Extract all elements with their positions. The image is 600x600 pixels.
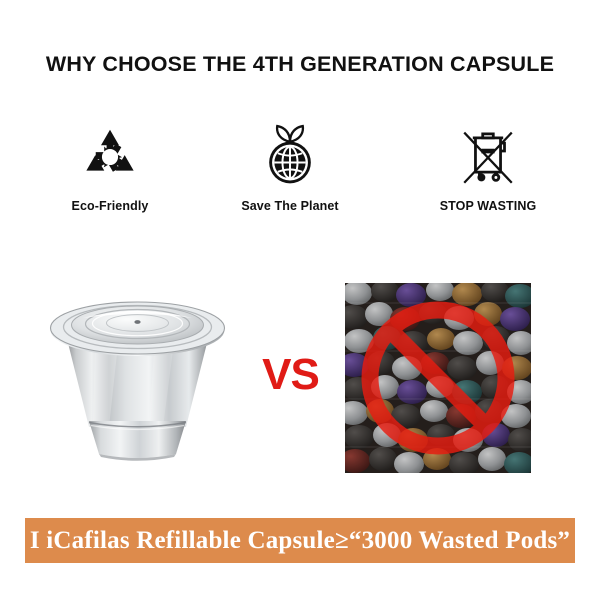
pile-of-disposable-coffee-pods-image xyxy=(345,283,531,473)
crossed-out-trash-bin-icon xyxy=(403,122,573,188)
bottom-banner: I iCafilas Refillable Capsule≥“3000 Wast… xyxy=(25,518,575,563)
benefit-label-eco-friendly: Eco-Friendly xyxy=(25,199,195,213)
benefit-item-save-the-planet: Save The Planet xyxy=(205,122,375,222)
recycle-icon xyxy=(25,122,195,188)
comparison-section: VS xyxy=(0,270,600,485)
globe-leaves-icon xyxy=(205,122,375,188)
benefit-label-stop-wasting: STOP WASTING xyxy=(403,199,573,213)
benefit-label-save-the-planet: Save The Planet xyxy=(205,199,375,213)
versus-label: VS xyxy=(243,353,338,397)
benefits-row: Eco-Friendly xyxy=(0,122,600,222)
page-headline: WHY CHOOSE THE 4TH GENERATION CAPSULE xyxy=(0,52,600,77)
stainless-steel-refillable-capsule-image xyxy=(35,288,240,463)
benefit-item-stop-wasting: STOP WASTING xyxy=(403,122,573,222)
benefit-item-eco-friendly: Eco-Friendly xyxy=(25,122,195,222)
banner-text: I iCafilas Refillable Capsule≥“3000 Wast… xyxy=(30,527,570,555)
